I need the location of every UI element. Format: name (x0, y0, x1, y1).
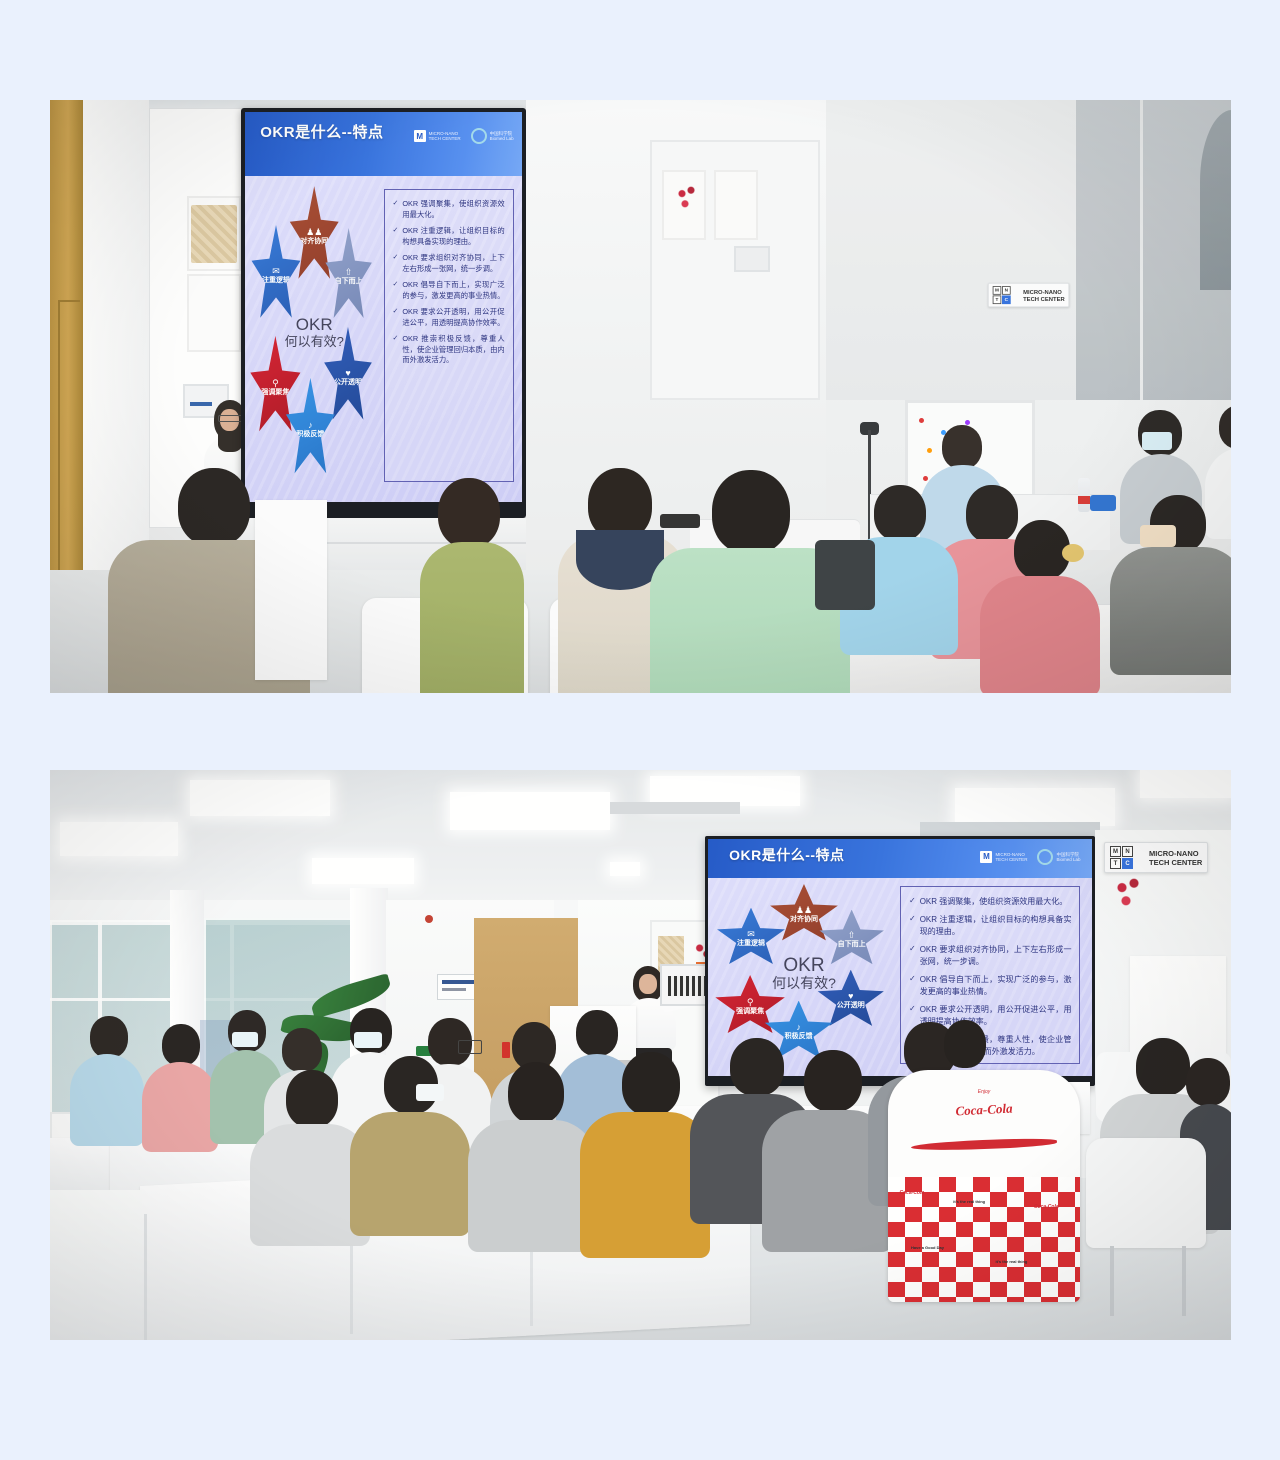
bullet-text: OKR 要求公开透明，用公开促进公平，用透明提高协作效率。 (402, 307, 504, 328)
bullet-item: ✓OKR 推崇积极反馈，尊重人性，使企业管理回归本质，由内而外激发活力。 (393, 334, 505, 366)
up-arrow-icon: ⇧ (848, 931, 856, 940)
chair-dark (815, 540, 875, 610)
heart-icon: ♥ (345, 369, 350, 378)
mntc-logo-text: MICRO-NANO TECH CENTER (429, 131, 461, 141)
attendee-denim (1110, 495, 1231, 670)
bullet-item: ✓OKR 要求组织对齐协同，上下左右形成一张网，统一步调。 (909, 944, 1071, 968)
magnifier-icon: ⚲ (272, 379, 279, 388)
attendee (350, 1056, 470, 1232)
ceiling-light (60, 822, 178, 856)
attendee (142, 1024, 218, 1146)
venue-line2: TECH CENTER (1023, 295, 1065, 302)
star-label: 对齐协同 (790, 916, 818, 924)
face-mask (416, 1084, 444, 1101)
slide-title: OKR是什么--特点 (260, 121, 383, 142)
ceiling-light (312, 858, 414, 884)
star-feedback: ♪ 积极反馈 (285, 378, 336, 483)
check-icon: ✓ (909, 944, 916, 968)
bullet-text: OKR 推崇积极反馈，尊重人性，使企业管理回归本质，由内而外激发活力。 (402, 334, 504, 366)
check-icon: ✓ (393, 199, 399, 220)
red-flowers (670, 180, 700, 214)
framed-picture (736, 248, 768, 270)
bullet-text: OKR 强调聚集，使组织资源效用最大化。 (402, 199, 504, 220)
coca-cola-jacket: Enjoy Coca-Cola it's the real thing Have… (888, 1070, 1080, 1302)
partner-logo-text: 中国科学院 Biomed Lab (490, 131, 514, 141)
partner-logo-text: 中国科学院 Biomed Lab (1056, 852, 1080, 862)
check-icon: ✓ (393, 334, 399, 366)
slide-title: OKR是什么--特点 (729, 845, 844, 865)
picture-barcode (668, 976, 710, 996)
bullet-item: ✓OKR 倡导自下而上，实现广泛的参与，激发更高的事业热情。 (909, 974, 1071, 998)
bullet-item: ✓OKR 注重逻辑，让组织目标的构想具备实现的理由。 (393, 226, 505, 247)
bullet-text: OKR 强调聚集，使组织资源效用最大化。 (920, 896, 1068, 908)
slide-logos: M MICRO-NANO TECH CENTER 中国科学院 Biomed La… (980, 849, 1080, 865)
bullet-text: OKR 倡导自下而上，实现广泛的参与，激发更高的事业热情。 (402, 280, 504, 301)
mntc-letter: C (1002, 295, 1011, 304)
slide-logos: M MICRO-NANO TECH CENTER 中国科学院 Biomed La… (414, 128, 514, 144)
shelf-cell (187, 274, 241, 352)
bench-seam (144, 1214, 147, 1340)
feedback-icon: ♪ (308, 421, 313, 430)
align-icon: ♟♟ (796, 906, 812, 915)
star-label: 强调聚焦 (261, 389, 289, 397)
face-mask (354, 1032, 382, 1048)
cola-tagline: Have a Good Day (911, 1246, 944, 1251)
white-board-prop (255, 500, 327, 680)
star-label: 积极反馈 (296, 431, 324, 439)
bullet-text: OKR 要求组织对齐协同，上下左右形成一张网，统一步调。 (920, 944, 1072, 968)
slide-bullet-panel: ✓OKR 强调聚集，使组织资源效用最大化。 ✓OKR 注重逻辑，让组织目标的构想… (384, 189, 514, 482)
bullet-text: OKR 倡导自下而上，实现广泛的参与，激发更高的事业热情。 (920, 974, 1072, 998)
ceiling-light (610, 862, 640, 876)
chair (1086, 1138, 1206, 1248)
slide-body: ♟♟ 对齐协同 ✉ 注重逻辑 ⇧ 自下而上 (245, 176, 522, 502)
star-center-text: OKR 何以有效? (762, 944, 847, 1002)
ceiling-vent (610, 802, 740, 814)
venue-sign-bottom: M N T C MICRO-NANO TECH CENTER (1104, 842, 1208, 873)
glasses (458, 1040, 482, 1054)
bullet-text: OKR 要求组织对齐协同，上下左右形成一张网，统一步调。 (402, 253, 504, 274)
venue-sign-text: MICRO-NANO TECH CENTER (1149, 849, 1202, 867)
feedback-icon: ♪ (796, 1023, 801, 1032)
star-label: 强调聚焦 (736, 1008, 764, 1016)
mntc-letter: N (1122, 846, 1133, 857)
mntc-letter: T (993, 295, 1002, 304)
hair-clip (1062, 544, 1084, 562)
mntc-logo-line2: TECH CENTER (995, 857, 1027, 862)
star-diagram: ♟♟ 对齐协同 ✉ 注重逻辑 ⇧ 自下而上 (251, 186, 378, 486)
check-icon: ✓ (909, 896, 916, 908)
star-label: 对齐协同 (300, 238, 328, 246)
venue-line2: TECH CENTER (1149, 858, 1202, 867)
center-line2: 何以有效? (772, 975, 836, 991)
check-icon: ✓ (393, 307, 399, 328)
page-root: OKR是什么--特点 M MICRO-NANO TECH CENTER (0, 0, 1280, 1460)
check-icon: ✓ (393, 253, 399, 274)
magnifier-icon: ⚲ (747, 998, 754, 1007)
check-icon: ✓ (393, 280, 399, 301)
bullet-item: ✓OKR 倡导自下而上，实现广泛的参与，激发更高的事业热情。 (393, 280, 505, 301)
partner-logo-line2: Biomed Lab (490, 136, 514, 141)
mntc-letter: C (1122, 858, 1133, 869)
wall-notice-line (442, 988, 466, 991)
up-arrow-icon: ⇧ (345, 268, 353, 277)
attendee (468, 1062, 596, 1248)
shelf-cell (714, 170, 758, 240)
face-mask (1140, 525, 1176, 547)
smoke-detector (425, 915, 433, 923)
ceiling-light (190, 780, 330, 816)
red-flowers (1106, 870, 1146, 914)
bullet-item: ✓OKR 强调聚集，使组织资源效用最大化。 (393, 199, 505, 220)
venue-line1: MICRO-NANO (1023, 288, 1065, 295)
check-icon: ✓ (393, 226, 399, 247)
venue-sign-top: M N T C MICRO-NANO TECH CENTER (988, 283, 1069, 307)
bench-foreground-left (50, 1190, 142, 1340)
heart-icon: ♥ (848, 992, 853, 1001)
star-center-text: OKR 何以有效? (284, 285, 345, 381)
cola-wordmark: Coca-Cola (955, 1101, 1013, 1120)
mntc-logo-slide: M MICRO-NANO TECH CENTER (980, 851, 1027, 863)
center-line2: 何以有效? (285, 334, 344, 350)
cola-enjoy-text: Enjoy (978, 1089, 991, 1095)
envelope-icon: ✉ (272, 267, 280, 276)
ceiling-light (450, 792, 610, 830)
partner-logo-slide: 中国科学院 Biomed Lab (1037, 849, 1080, 865)
attendee (980, 520, 1100, 690)
cola-tagline: Coca-Cola (1034, 1205, 1059, 1210)
attendee-green-dress (402, 478, 542, 693)
mntc-letter: M (993, 286, 1002, 295)
bullet-item: ✓OKR 注重逻辑，让组织目标的构想具备实现的理由。 (909, 914, 1071, 938)
slide-top: OKR是什么--特点 M MICRO-NANO TECH CENTER (245, 112, 522, 502)
mntc-letter: N (1002, 286, 1011, 295)
bullet-text: OKR 注重逻辑，让组织目标的构想具备实现的理由。 (402, 226, 504, 247)
center-line1: OKR (783, 956, 824, 975)
cola-tagline: it's the real thing (996, 1260, 1028, 1265)
bullet-text: OKR 注重逻辑，让组织目标的构想具备实现的理由。 (920, 914, 1072, 938)
display-screen-top: OKR是什么--特点 M MICRO-NANO TECH CENTER (241, 108, 526, 518)
mntc-logo-grid: M N T C (993, 286, 1020, 304)
attendee (70, 1016, 144, 1142)
bullet-list: ✓OKR 强调聚集，使组织资源效用最大化。 ✓OKR 注重逻辑，让组织目标的构想… (393, 199, 505, 366)
envelope-icon: ✉ (747, 930, 755, 939)
window-mullion (1140, 100, 1143, 400)
cola-tagline: Coca-Cola (900, 1191, 925, 1196)
star-label: 注重逻辑 (262, 277, 290, 285)
magnet-dot (919, 418, 924, 423)
cola-swoosh (911, 1137, 1057, 1151)
check-icon: ✓ (909, 974, 916, 998)
bullet-item: ✓OKR 要求组织对齐协同，上下左右形成一张网，统一步调。 (393, 253, 505, 274)
star-label: 公开透明 (837, 1002, 865, 1010)
mntc-letter: M (1110, 846, 1121, 857)
mntc-logo-text: MICRO-NANO TECH CENTER (995, 852, 1027, 862)
ceiling-light (955, 788, 1115, 826)
woven-decor-panel (191, 205, 237, 263)
cola-tagline: it's the real thing (953, 1200, 985, 1205)
face-mask (1142, 432, 1172, 450)
back-wall-top (826, 100, 1076, 400)
partner-logo-mark (471, 128, 487, 144)
align-icon: ♟♟ (306, 228, 322, 237)
mntc-logo-slide: M MICRO-NANO TECH CENTER (414, 130, 461, 142)
bullet-item: ✓OKR 强调聚集，使组织资源效用最大化。 (909, 896, 1071, 908)
center-line1: OKR (296, 315, 333, 334)
partner-logo-mark (1037, 849, 1053, 865)
photo-bottom: OKR是什么--特点 M MICRO-NANO TECH CENTER (50, 770, 1231, 1340)
chair-leg (1110, 1246, 1114, 1316)
check-icon: ✓ (909, 914, 916, 938)
photo-top: OKR是什么--特点 M MICRO-NANO TECH CENTER (50, 100, 1231, 693)
venue-line1: MICRO-NANO (1149, 849, 1202, 858)
face-mask (232, 1032, 258, 1047)
mntc-letter: T (1110, 858, 1121, 869)
bullet-item: ✓OKR 要求公开透明，用公开促进公平，用透明提高协作效率。 (393, 307, 505, 328)
mntc-mark: M (414, 130, 426, 142)
mntc-mark: M (980, 851, 992, 863)
water-bottle (1078, 478, 1090, 512)
chair-leg (1182, 1246, 1186, 1316)
mntc-logo-grid: M N T C (1110, 846, 1145, 869)
mntc-logo-line2: TECH CENTER (429, 136, 461, 141)
wall-notice-line (442, 980, 474, 984)
ceiling-light (1140, 770, 1231, 798)
partner-logo-line2: Biomed Lab (1056, 857, 1080, 862)
glasses (660, 514, 700, 528)
partner-logo-slide: 中国科学院 Biomed Lab (471, 128, 514, 144)
venue-sign-text: MICRO-NANO TECH CENTER (1023, 288, 1065, 302)
